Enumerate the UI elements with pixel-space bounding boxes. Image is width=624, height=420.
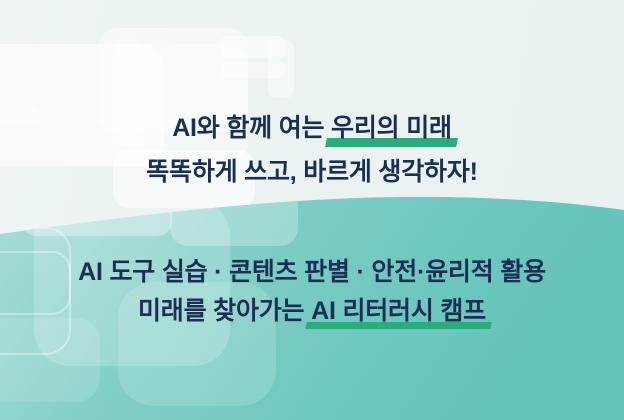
- ai-literacy-camp-banner: AI와 함께 여는 우리의 미래 똑똑하게 쓰고, 바르게 생각하자! AI 도…: [0, 0, 624, 420]
- banner-text-layer: AI와 함께 여는 우리의 미래 똑똑하게 쓰고, 바르게 생각하자! AI 도…: [0, 0, 624, 420]
- headline-line-1: AI와 함께 여는 우리의 미래: [0, 108, 624, 144]
- subhead-line-2-highlight: AI 리터러시 캠프: [311, 291, 486, 327]
- subhead-line-2: 미래를 찾아가는 AI 리터러시 캠프: [0, 291, 624, 327]
- headline-line-1-plain: AI와 함께 여는: [172, 114, 331, 142]
- headline-line-1-highlight: 우리의 미래: [331, 108, 452, 144]
- subhead-line-1: AI 도구 실습 · 콘텐츠 판별 · 안전·윤리적 활용: [0, 252, 624, 288]
- headline-line-2: 똑똑하게 쓰고, 바르게 생각하자!: [0, 152, 624, 188]
- subhead-line-2-plain: 미래를 찾아가는: [138, 297, 311, 325]
